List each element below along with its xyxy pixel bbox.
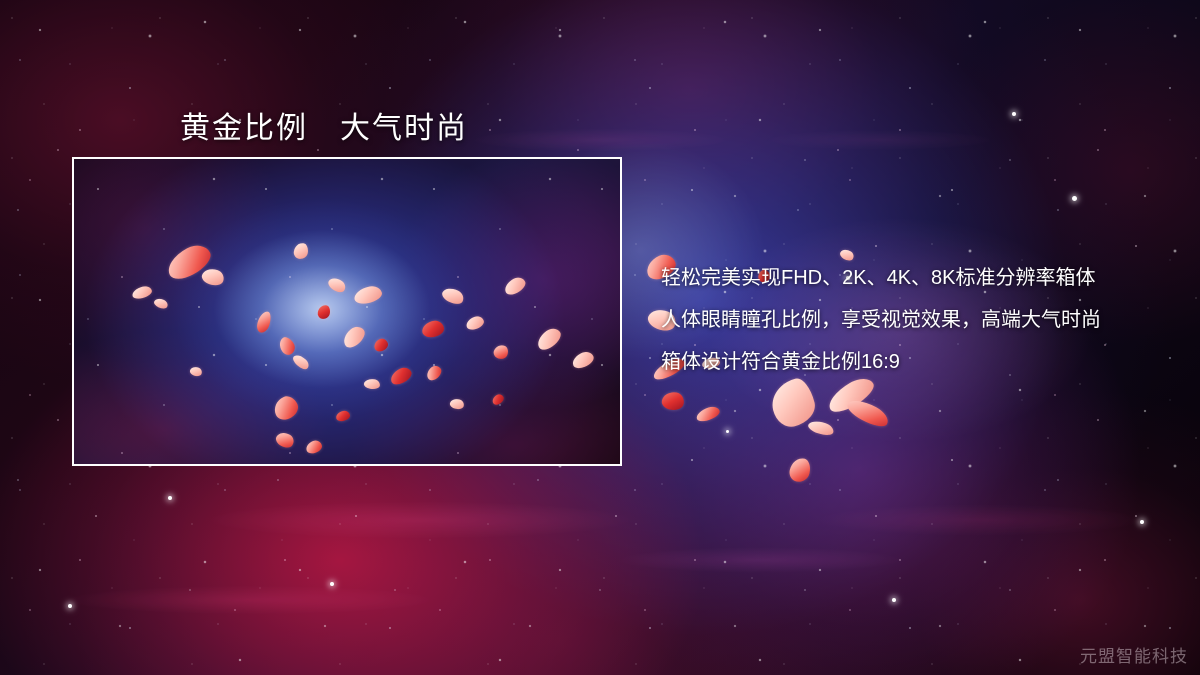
bright-star: [168, 496, 172, 500]
bright-star: [892, 598, 896, 602]
petal: [695, 405, 722, 424]
framed-image-panel: [72, 157, 622, 466]
watermark-text: 元盟智能科技: [1080, 642, 1188, 667]
presentation-slide: 黄金比例 大气时尚 轻松完美实现FHD、2K、4K、8K标准分辨率箱体 人体眼睛…: [0, 0, 1200, 675]
bright-star: [726, 430, 729, 433]
petal: [661, 390, 686, 412]
bright-star: [1072, 196, 1077, 201]
bright-star: [68, 604, 72, 608]
slide-title: 黄金比例 大气时尚: [180, 103, 468, 147]
petal: [807, 418, 835, 437]
body-copy-block: 轻松完美实现FHD、2K、4K、8K标准分辨率箱体 人体眼睛瞳孔比例，享受视觉效…: [661, 257, 1181, 383]
bright-star: [1012, 112, 1016, 116]
bright-star: [330, 582, 334, 586]
body-copy-line-1: 轻松完美实现FHD、2K、4K、8K标准分辨率箱体: [661, 257, 1181, 299]
bright-star: [1140, 520, 1144, 524]
body-copy-line-2: 人体眼睛瞳孔比例，享受视觉效果，高端大气时尚: [661, 299, 1181, 341]
petal: [788, 456, 813, 484]
petal: [844, 395, 891, 432]
body-copy-line-3: 箱体设计符合黄金比例16:9: [661, 341, 1181, 383]
